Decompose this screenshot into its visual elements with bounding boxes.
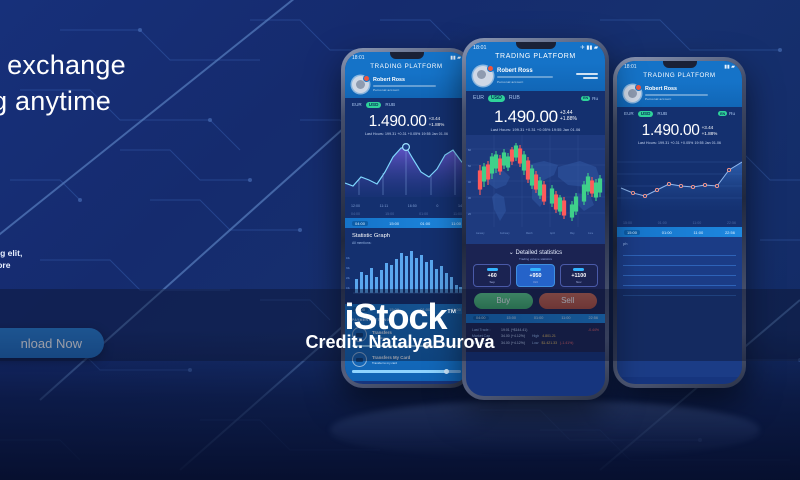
area-chart-ticks-faded: 15:00 01:00 11:00 22:56	[617, 219, 742, 227]
app-bar: TRADING PLATFORM	[466, 52, 605, 63]
uiux-subtitle: Mobile App	[0, 213, 238, 225]
user-name: Robert Ross	[373, 77, 461, 83]
currency-usd[interactable]: USD	[638, 111, 654, 117]
app-bar: TRADING PLATFORM	[617, 71, 742, 82]
headline-line-2: , trading anytime	[0, 84, 238, 118]
price-delta-pct: +1.88%	[702, 131, 718, 137]
phone-reflection	[330, 400, 760, 460]
notification-dot	[363, 75, 370, 82]
app-bar: TRADING PLATFORM	[345, 62, 468, 73]
price-value: 1.490.00	[642, 122, 700, 140]
user-meter	[497, 76, 553, 78]
stat-card-month: Sep	[475, 280, 509, 284]
svg-text:February: February	[500, 232, 510, 235]
avatar	[352, 76, 369, 93]
price-subtext: Last Hours: 199.31 +0.31 +0.05% 19:55 Ja…	[345, 132, 468, 136]
user-meta: Personal account	[497, 80, 572, 84]
currency-eur[interactable]: EUR	[624, 111, 634, 116]
tick: 0	[436, 204, 438, 208]
tick: 01:00	[419, 212, 428, 216]
timeline-tick[interactable]: 04:00	[352, 221, 368, 226]
currency-usd[interactable]: USD	[366, 102, 382, 108]
user-name: Robert Ross	[497, 68, 572, 74]
status-time: 18:01	[473, 45, 487, 51]
currency-eur[interactable]: EUR	[352, 102, 362, 107]
price-block: 1.490.00 +3.44 +1.88% Last Hours: 199.31…	[466, 105, 605, 135]
timeline-tick[interactable]: 11:00	[451, 221, 461, 226]
user-meter	[373, 85, 436, 87]
area-chart[interactable]: 15:00 01:00 11:00 22:56	[617, 148, 742, 227]
tick: 12:00	[351, 204, 360, 208]
timeline-tick[interactable]: 01:00	[662, 230, 672, 235]
currency-row[interactable]: EUR USD RUB EN Ru	[466, 91, 605, 105]
poster-canvas: urrency exchange , trading anytime ons f…	[0, 0, 800, 480]
profile-card[interactable]: Robert Ross Personal account	[466, 63, 605, 91]
hero-copy: urrency exchange , trading anytime ons f…	[0, 48, 238, 271]
detailed-statistics-header[interactable]: ⌄ Detailed statistics Trading volume sta…	[466, 244, 605, 264]
currency-row[interactable]: EUR USD RUB	[345, 98, 468, 111]
svg-text:June: June	[588, 232, 594, 235]
timeline-tick[interactable]: 11:00	[694, 230, 704, 235]
svg-text:April: April	[550, 232, 555, 235]
user-name: Robert Ross	[645, 86, 735, 92]
currency-eur[interactable]: EUR	[473, 95, 484, 101]
tick: 01:00	[658, 221, 667, 225]
candlestick-chart[interactable]: 6050 403020 JanuaryFebruaryMarch AprilMa…	[466, 135, 605, 244]
detailed-statistics-sub: Trading volume statistics	[466, 257, 605, 261]
status-icons: ▮▮ ▰	[724, 64, 735, 70]
price-subtext: Last Hours: 199.31 +0.31 +0.05% 19:55 Ja…	[466, 128, 605, 132]
menu-icon[interactable]	[576, 71, 598, 81]
trademark-icon: ™	[447, 308, 456, 319]
tick: 15:00	[623, 221, 632, 225]
tick: 11:00	[453, 212, 462, 216]
user-meter	[645, 94, 708, 96]
slider-transfers-my-card[interactable]	[352, 370, 461, 372]
timeline-tick[interactable]: 15:00	[624, 230, 640, 235]
price-delta-pct: +1.88%	[560, 116, 577, 122]
payment-desc: Transfer to my card	[372, 361, 461, 365]
notch	[516, 42, 556, 49]
currency-usd[interactable]: USD	[488, 95, 505, 102]
price-block: 1.490.00 +3.44 +1.88% Last Hours: 199.31…	[345, 111, 468, 139]
status-icons: ✈ ▮▮ ▰	[580, 45, 598, 51]
tick: 22:56	[727, 221, 736, 225]
stat-card-month: Oct	[518, 280, 552, 284]
statistic-section: Statistic Graph All mentions:	[345, 228, 468, 247]
flag-label: Ru	[592, 96, 598, 101]
headline-line-1: urrency exchange	[0, 48, 238, 82]
timeline-tick[interactable]: 15:00	[389, 221, 399, 226]
tick: 11:11	[380, 204, 388, 208]
avatar	[624, 85, 641, 102]
currency-row[interactable]: EUR USD RUB EN Ru	[617, 107, 742, 120]
area-chart-ticks: 12:00 11:11 16:50 0 14	[345, 202, 468, 210]
stat-card-value: +60	[475, 273, 509, 279]
timeline-bar[interactable]: 15:00 01:00 11:00 22:56	[617, 227, 742, 237]
timeline-tick[interactable]: 22:56	[725, 230, 735, 235]
status-time: 18:01	[624, 64, 637, 70]
hero-subline: ons for exchange	[0, 130, 238, 141]
area-chart-svg	[617, 148, 742, 214]
stat-card-sep[interactable]: +60 Sep	[473, 264, 511, 287]
app-title: TRADING PLATFORM	[370, 63, 442, 70]
user-meta: Personal account	[645, 97, 735, 101]
svg-text:30k: 30k	[346, 267, 351, 270]
price-block: 1.490.00 +3.44 +1.88% Last Hours: 199.31…	[617, 120, 742, 148]
credit-watermark: Credit: NatalyaBurova	[0, 332, 800, 353]
tick: 15:00	[385, 212, 394, 216]
currency-rub[interactable]: RUB	[657, 111, 667, 116]
stat-card-value: +1100	[562, 273, 596, 279]
area-chart-svg	[345, 139, 468, 197]
notification-dot	[635, 84, 642, 91]
stat-cards[interactable]: +60 Sep +950 Oct +1100 Nov	[466, 264, 605, 291]
timeline-bar-top[interactable]: 04:00 15:00 01:00 11:00	[345, 218, 468, 228]
notch	[663, 61, 697, 68]
stat-card-month: Nov	[562, 280, 596, 284]
svg-text:March: March	[526, 232, 533, 235]
avatar	[473, 66, 493, 86]
currency-rub[interactable]: RUB	[385, 102, 395, 107]
detailed-statistics-title: Detailed statistics	[516, 250, 563, 256]
statistic-subtitle: All mentions:	[352, 241, 461, 245]
flag-badge: EN	[718, 111, 727, 116]
notification-dot	[487, 65, 494, 72]
price-value: 1.490.00	[494, 107, 558, 127]
lorem-line-2: didunt ut labore et dolore	[0, 259, 238, 271]
stat-card-oct[interactable]: +950 Oct	[516, 264, 554, 287]
language-selector[interactable]: EN Ru	[581, 96, 598, 101]
price-subtext: Last Hours: 199.31 +0.31 +0.05% 19:55 Ja…	[617, 141, 742, 145]
stat-card-value: +950	[518, 273, 552, 279]
user-meta: Personal account	[373, 88, 461, 92]
tick: 04:00	[351, 212, 360, 216]
price-value: 1.490.00	[369, 113, 427, 131]
svg-text:January: January	[476, 232, 485, 235]
candlestick-chart-svg: 6050 403020 JanuaryFebruaryMarch AprilMa…	[466, 135, 605, 239]
profile-card[interactable]: Robert Ross Personal account	[345, 73, 468, 98]
svg-text:40k: 40k	[346, 257, 351, 260]
stat-card-nov[interactable]: +1100 Nov	[560, 264, 598, 287]
svg-text:May: May	[570, 232, 575, 235]
timeline-tick[interactable]: 01:00	[420, 221, 430, 226]
profile-card[interactable]: Robert Ross Personal account	[617, 82, 742, 107]
lorem-line-1: , consectetur adipiscing elit,	[0, 247, 238, 259]
status-time: 18:01	[352, 55, 365, 61]
app-title: TRADING PLATFORM	[495, 53, 576, 60]
flag-label: Ru	[729, 111, 735, 116]
svg-text:20k: 20k	[346, 277, 351, 280]
app-title: TRADING PLATFORM	[643, 72, 715, 79]
tick: 16:50	[408, 204, 417, 208]
tick: 11:00	[693, 221, 702, 225]
statistic-title: Statistic Graph	[352, 233, 461, 239]
chevron-down-icon: ⌄	[509, 250, 514, 256]
lower-panel-label: ph	[623, 241, 736, 246]
area-chart[interactable]: 12:00 11:11 16:50 0 14 04:00 15:00 01:00…	[345, 139, 468, 218]
flag-badge: EN	[581, 96, 590, 101]
status-icons: ▮▮ ▰	[450, 55, 461, 61]
language-selector[interactable]: EN Ru	[718, 111, 735, 116]
area-chart-ticks-faded: 04:00 15:00 01:00 11:00	[345, 210, 468, 218]
uiux-title: I/UX	[0, 179, 238, 212]
currency-rub[interactable]: RUB	[509, 95, 520, 101]
notch	[390, 52, 424, 59]
price-delta-pct: +1.88%	[429, 122, 445, 128]
